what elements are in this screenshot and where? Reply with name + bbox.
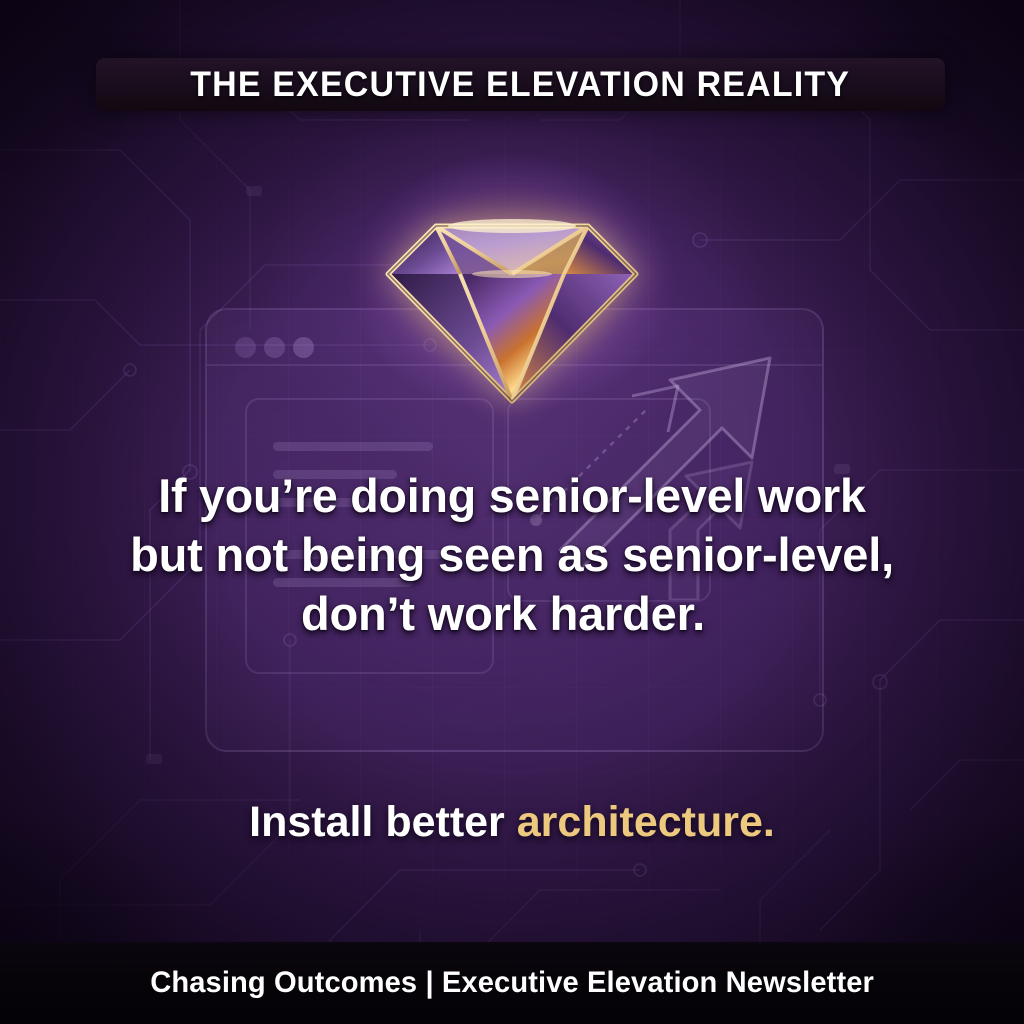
diamond-gem-icon	[362, 196, 662, 426]
footer-banner: Chasing Outcomes | Executive Elevation N…	[0, 942, 1024, 1024]
social-post-card: THE EXECUTIVE ELEVATION REALITY If you’r…	[0, 0, 1024, 1024]
header-banner: THE EXECUTIVE ELEVATION REALITY	[96, 58, 945, 111]
footer-brand-text: Chasing Outcomes | Executive Elevation N…	[150, 966, 874, 1000]
quote-line-1: If you’re doing senior-level work	[80, 466, 943, 525]
quote-block: If you’re doing senior-level work but no…	[0, 466, 1024, 644]
quote-line-2: but not being seen as senior-level,	[76, 525, 948, 584]
cta-block: Install better architecture.	[0, 798, 1024, 847]
header-title: THE EXECUTIVE ELEVATION REALITY	[191, 65, 851, 105]
quote-line-3: don’t work harder.	[76, 584, 948, 643]
cta-text-plain: Install better	[249, 798, 517, 846]
cta-text-accent: architecture.	[517, 798, 775, 846]
